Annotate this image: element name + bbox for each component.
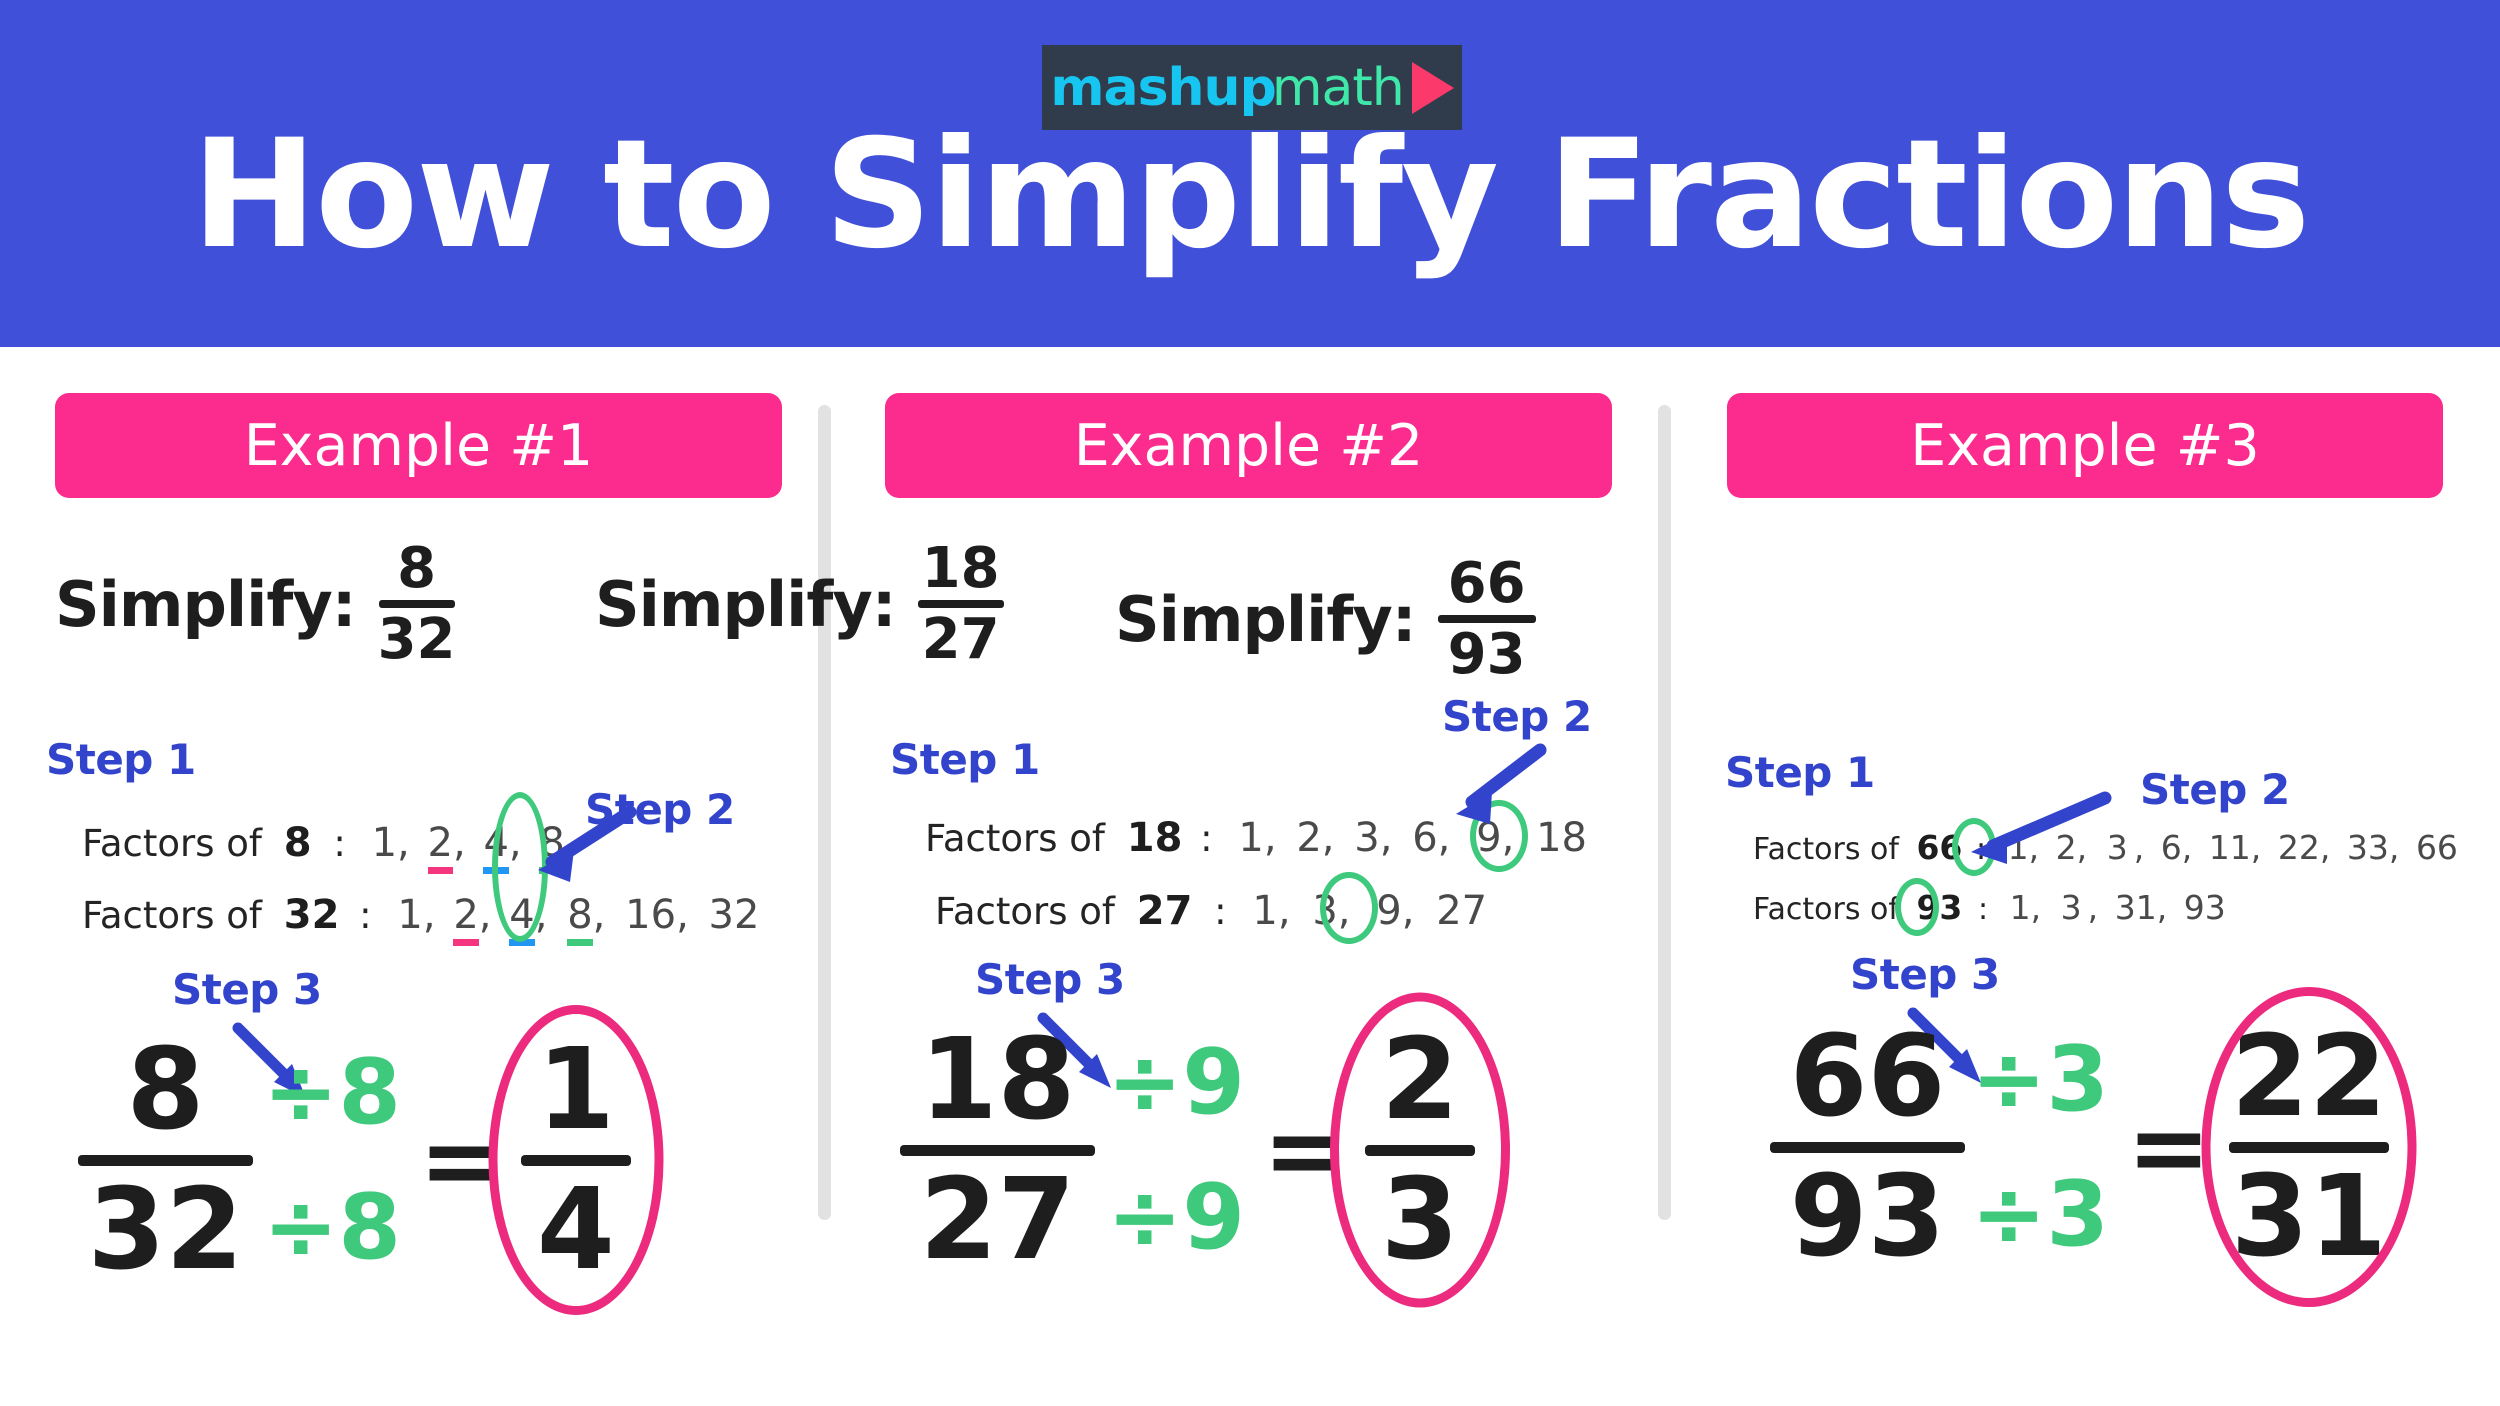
problem-fraction: 66 93 [1438, 555, 1536, 683]
division-numerator: 18 [920, 1022, 1076, 1138]
example-2-problem: Simplify: 18 27 [595, 540, 1004, 668]
factors-colon: : [1978, 892, 1988, 927]
factors-target-number: 8 [284, 820, 312, 866]
example-2-gcf-circle-2 [1320, 872, 1378, 944]
problem-numerator: 8 [397, 540, 436, 597]
factor-value: 66 [2416, 828, 2458, 867]
division-fraction: 8 32 [78, 1032, 253, 1288]
example-1-header: Example #1 [55, 393, 782, 498]
division-denominator: 32 [88, 1172, 244, 1288]
fraction-bar [900, 1145, 1095, 1156]
simplify-label: Simplify: [1115, 583, 1416, 656]
factor-value: 1 [1238, 815, 1263, 861]
division-denominator: 93 [1790, 1159, 1946, 1275]
factor-value-common-2: 2 [453, 892, 478, 946]
logo-text-mashup: mashup [1050, 62, 1276, 114]
division-denominator: 27 [920, 1162, 1076, 1278]
factor-value: 93 [2184, 888, 2226, 927]
factor-value: 1 [1252, 888, 1277, 934]
factors-colon: : [359, 894, 371, 937]
example-2-step1-label: Step 1 [890, 735, 1040, 784]
example-1-problem: Simplify: 8 32 [55, 540, 456, 668]
factors-colon: : [1200, 817, 1212, 860]
factors-colon: : [1214, 890, 1226, 933]
equals-sign: = [2127, 1089, 2211, 1206]
divisor-bottom: ÷9 [1107, 1150, 1245, 1285]
factor-value: 1 [397, 892, 422, 938]
answer-container: 22 31 [2229, 1019, 2389, 1275]
divisor-top: ÷3 [1971, 1012, 2109, 1147]
factor-value-gcf: 3 [2061, 888, 2082, 927]
simplify-label: Simplify: [55, 568, 356, 641]
fraction-bar [1770, 1142, 1965, 1153]
answer-highlight-ellipse [1330, 993, 1510, 1308]
factors-target-number: 18 [1127, 815, 1183, 861]
example-3-step3-label: Step 3 [1850, 950, 2000, 999]
example-1-step3-equation: 8 32 ÷8 ÷8 = 1 4 [78, 1025, 631, 1295]
column-divider-2 [1658, 405, 1671, 1220]
problem-numerator: 66 [1448, 555, 1526, 612]
factors-of-label: Factors of [1753, 832, 1899, 867]
division-fraction: 18 27 [900, 1022, 1095, 1278]
division-numerator: 8 [127, 1032, 205, 1148]
problem-fraction: 8 32 [378, 540, 456, 668]
example-2-header: Example #2 [885, 393, 1612, 498]
problem-fraction: 18 27 [918, 540, 1004, 668]
answer-highlight-ellipse [2201, 987, 2416, 1307]
divisor-bottom: ÷8 [263, 1160, 401, 1295]
problem-numerator: 18 [922, 540, 1000, 597]
factor-value: 22 [2278, 828, 2320, 867]
example-2-step2-label: Step 2 [1442, 692, 1592, 741]
example-3-step1-label: Step 1 [1725, 748, 1875, 797]
example-3-step3-equation: 66 93 ÷3 ÷3 = 22 31 [1770, 1012, 2389, 1282]
example-3-factors-row-2: Factors of 93 : 1, 3, 31, 93 [1753, 888, 2226, 927]
example-3-gcf-circle-2 [1895, 878, 1939, 936]
example-2-factors-row-2: Factors of 27 : 1, 3, 9, 27 [935, 888, 1487, 934]
divisor-bottom: ÷3 [1971, 1147, 2109, 1282]
example-1-step3-label: Step 3 [172, 965, 322, 1014]
example-1-step2-arrow [520, 800, 640, 910]
problem-denominator: 93 [1448, 626, 1526, 683]
logo-text-math: math [1272, 62, 1404, 114]
division-fraction: 66 93 [1770, 1019, 1965, 1275]
factor-value: 2 [1296, 815, 1321, 861]
problem-denominator: 27 [922, 611, 1000, 668]
simplify-label: Simplify: [595, 568, 896, 641]
factor-value: 11 [2209, 828, 2251, 867]
page-title: How to Simplify Fractions [0, 120, 2500, 270]
divisor-stack: ÷3 ÷3 [1971, 1012, 2109, 1282]
example-3-step2-arrow [1945, 790, 2125, 890]
division-numerator: 66 [1790, 1019, 1946, 1135]
factor-value: 1 [372, 820, 397, 866]
answer-highlight-ellipse [488, 1005, 663, 1315]
divisor-top: ÷9 [1107, 1015, 1245, 1150]
example-3-problem: Simplify: 66 93 [1115, 555, 1536, 683]
factors-of-label: Factors of [82, 894, 262, 937]
fraction-bar [78, 1155, 253, 1166]
problem-denominator: 32 [378, 611, 456, 668]
example-2-step2-arrow [1430, 740, 1560, 850]
factors-target-number: 27 [1137, 888, 1193, 934]
factors-of-label: Factors of [1753, 892, 1899, 927]
factors-target-number: 32 [284, 892, 340, 938]
factors-of-label: Factors of [935, 890, 1115, 933]
example-3-header: Example #3 [1727, 393, 2443, 498]
factors-colon: : [333, 822, 345, 865]
divisor-stack: ÷9 ÷9 [1107, 1015, 1245, 1285]
example-3-step2-label: Step 2 [2140, 765, 2290, 814]
example-1-step1-label: Step 1 [46, 735, 196, 784]
factor-value-common-2: 2 [428, 820, 453, 874]
factor-value: 3 [1354, 815, 1379, 861]
example-2-step3-equation: 18 27 ÷9 ÷9 = 2 3 [900, 1015, 1475, 1285]
factor-value: 27 [1436, 888, 1487, 934]
factor-value: 32 [709, 892, 760, 938]
factor-value: 6 [2161, 828, 2182, 867]
factor-value: 31 [2115, 888, 2157, 927]
column-divider-1 [818, 405, 831, 1220]
answer-container: 1 4 [521, 1032, 631, 1288]
example-2-step3-label: Step 3 [975, 955, 1125, 1004]
factors-of-label: Factors of [925, 817, 1105, 860]
answer-container: 2 3 [1365, 1022, 1475, 1278]
divisor-top: ÷8 [263, 1025, 401, 1160]
factor-value: 1 [2010, 888, 2031, 927]
play-triangle-icon [1412, 62, 1454, 114]
factor-value: 33 [2347, 828, 2389, 867]
example-1-factors-row-2: Factors of 32 : 1, 2, 4, 8, 16, 32 [82, 892, 759, 938]
factors-of-label: Factors of [82, 822, 262, 865]
factor-value-gcf: 9 [1376, 888, 1401, 934]
page-banner: mashup math How to Simplify Fractions [0, 0, 2500, 347]
divisor-stack: ÷8 ÷8 [263, 1025, 401, 1295]
